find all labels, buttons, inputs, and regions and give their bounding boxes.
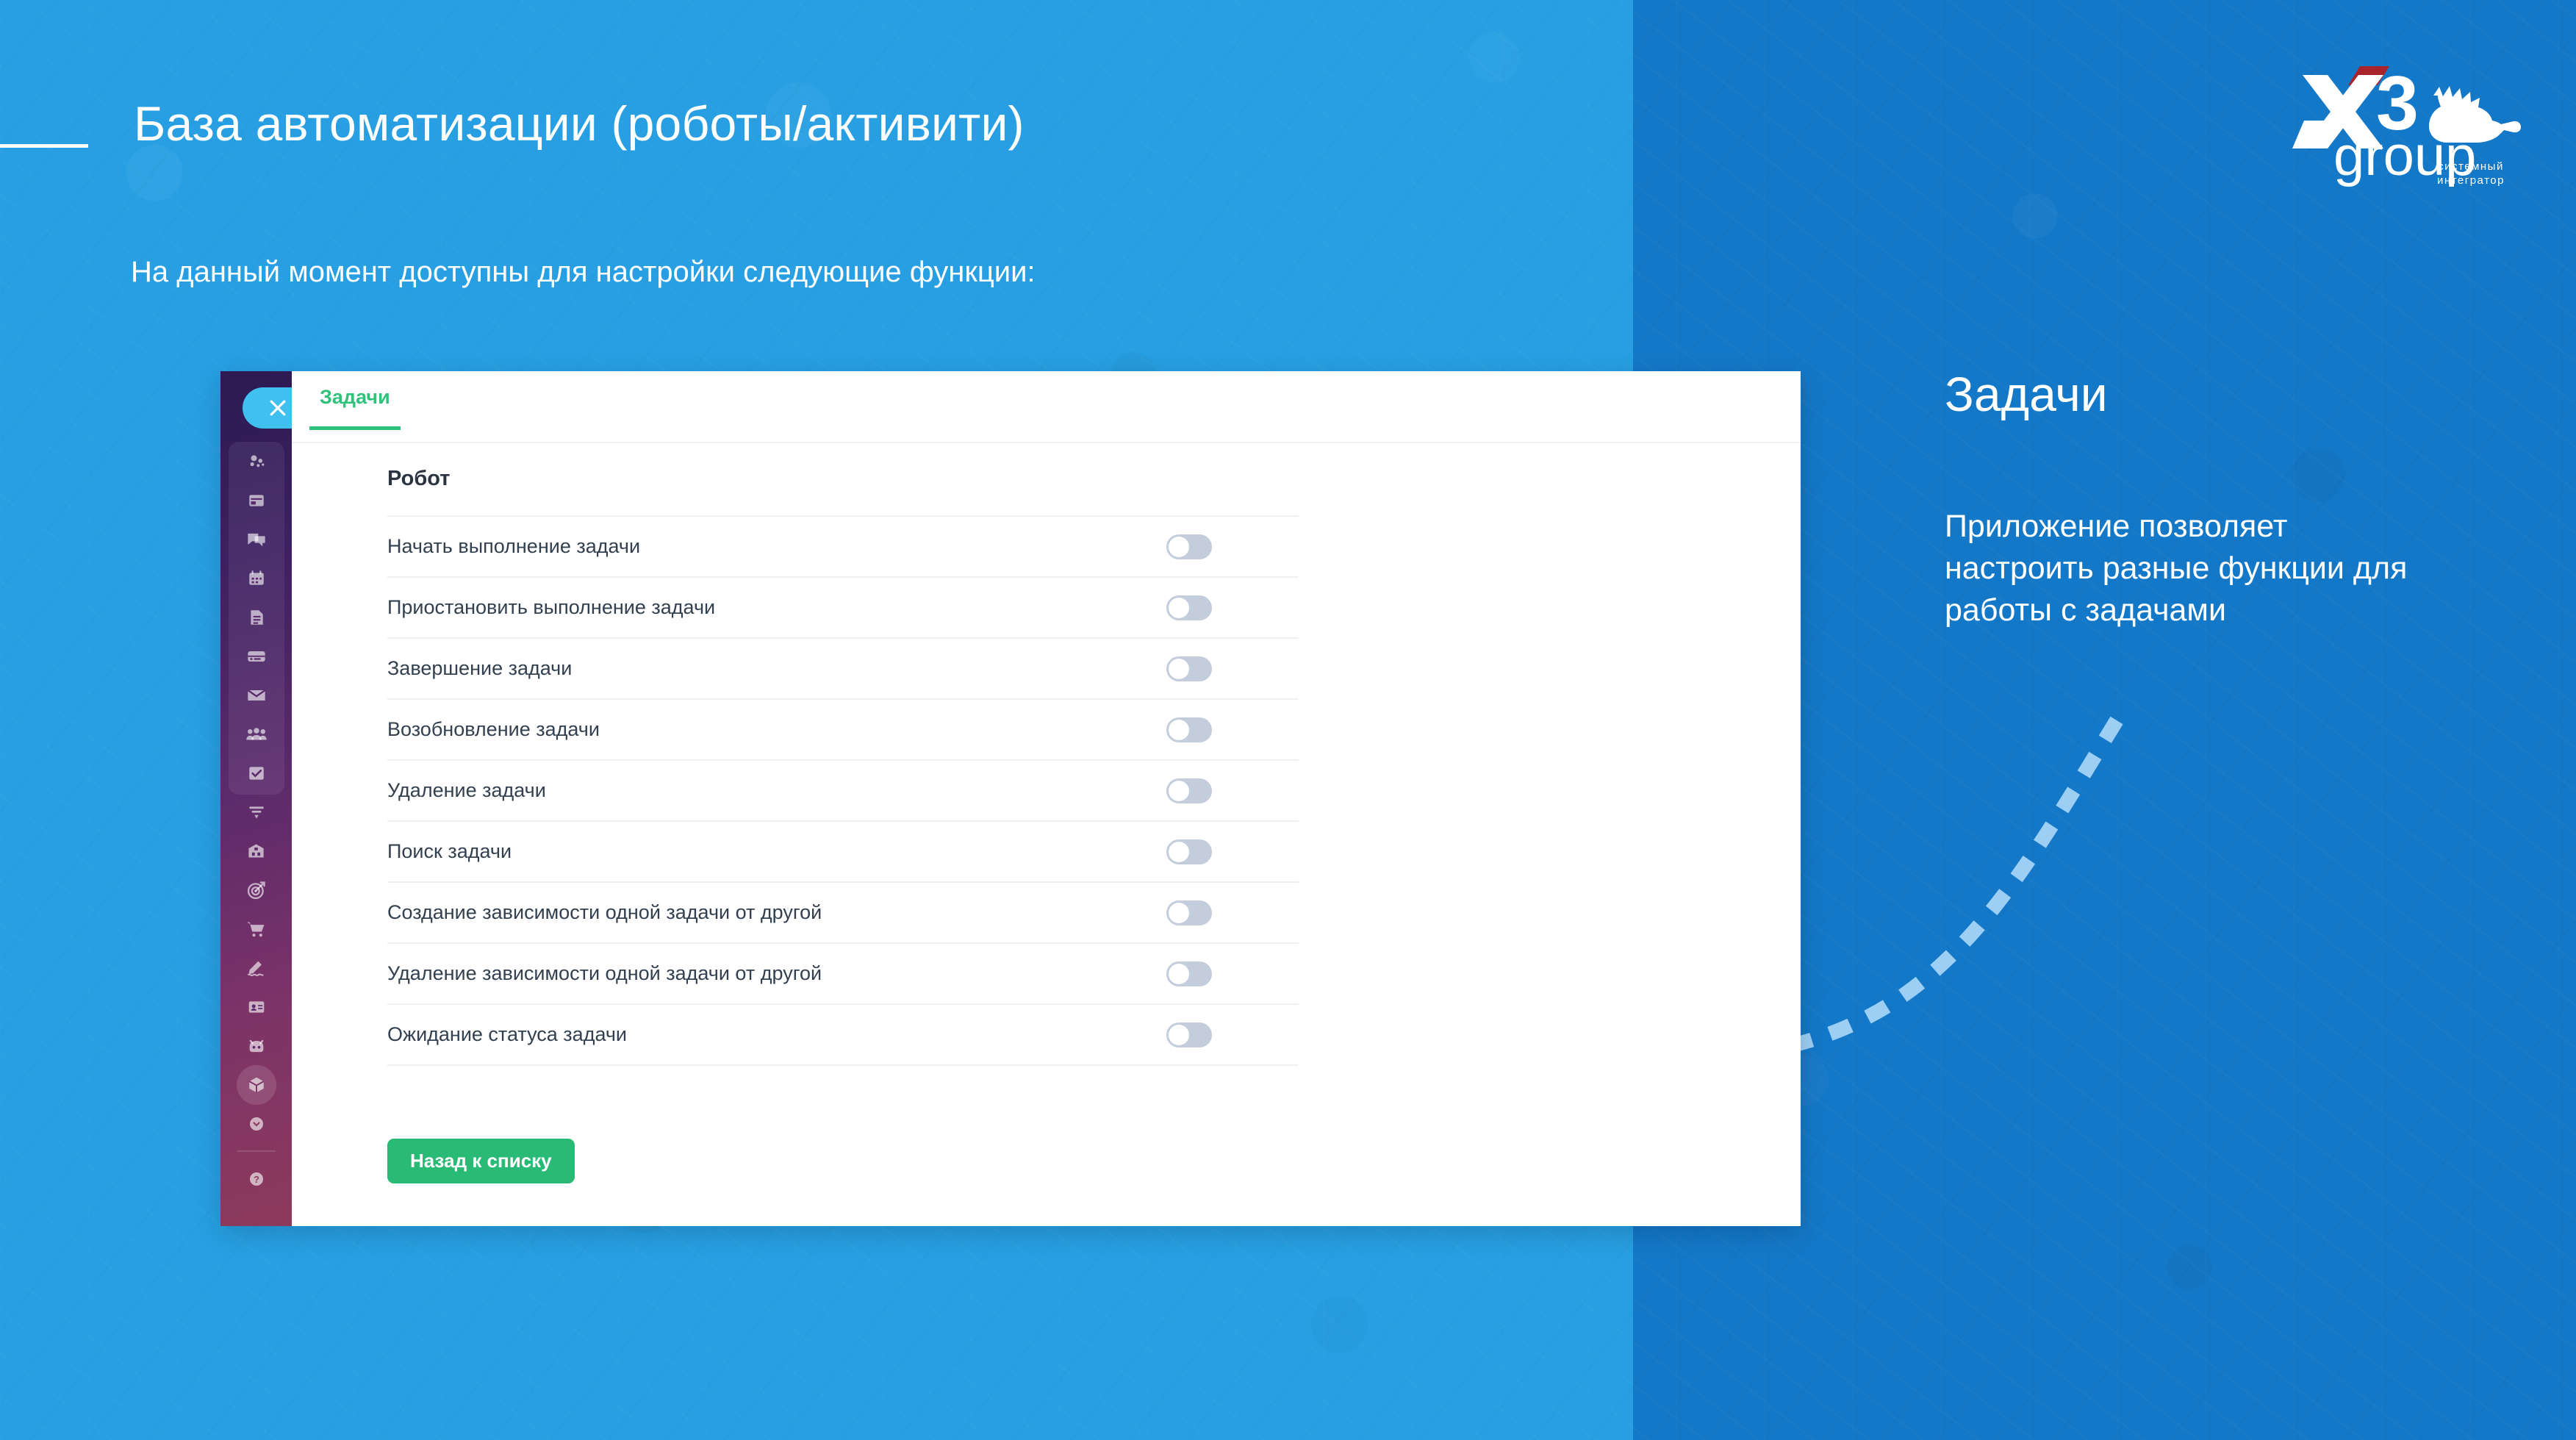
app-window: ? Задачи Робот Начать выполнение задачи … — [220, 371, 1801, 1226]
row-label: Приостановить выполнение задачи — [387, 596, 715, 619]
target-icon — [246, 880, 267, 900]
sidebar-divider — [237, 1150, 276, 1152]
table-row: Ожидание статуса задачи — [387, 1003, 1299, 1066]
sidebar-item-calendar[interactable] — [220, 559, 292, 598]
sidebar-item-funnel[interactable] — [220, 792, 292, 831]
row-label: Поиск задачи — [387, 840, 512, 863]
bot-icon — [246, 1036, 267, 1056]
title-rule — [0, 144, 88, 148]
sidebar-item-contact-card[interactable] — [220, 987, 292, 1026]
table-row: Приостановить выполнение задачи — [387, 576, 1299, 637]
right-column-body: Приложение позволяет настроить разные фу… — [1945, 506, 2444, 631]
live-feed-icon — [246, 451, 267, 472]
chevron-down-circle-icon — [248, 1115, 265, 1133]
sidebar-item-company[interactable] — [220, 831, 292, 870]
sidebar-item-target[interactable] — [220, 870, 292, 909]
table-row: Начать выполнение задачи — [387, 515, 1299, 576]
row-label: Завершение задачи — [387, 657, 572, 680]
chat-icon — [246, 529, 267, 550]
tasks-document-icon — [247, 608, 266, 627]
sidebar-item-chat[interactable] — [220, 520, 292, 559]
sidebar-item-help[interactable]: ? — [220, 1159, 292, 1198]
close-icon[interactable] — [243, 387, 292, 429]
row-toggle[interactable] — [1166, 778, 1212, 803]
section-title: Робот — [387, 467, 450, 491]
row-toggle[interactable] — [1166, 961, 1212, 986]
sidebar-item-tasks-document[interactable] — [220, 598, 292, 637]
workspace-icon — [247, 491, 266, 510]
row-label: Ожидание статуса задачи — [387, 1023, 627, 1046]
checkbox-tasks-icon — [247, 764, 266, 783]
sidebar-item-bot[interactable] — [220, 1026, 292, 1065]
logo-tagline-line1: системный — [2416, 160, 2526, 174]
app-sidebar: ? — [220, 371, 292, 1226]
row-toggle[interactable] — [1166, 1022, 1212, 1047]
help-icon: ? — [248, 1170, 265, 1188]
mail-icon — [246, 685, 267, 706]
robot-function-list: Начать выполнение задачи Приостановить в… — [387, 515, 1299, 1066]
logo-tagline-line2: интегратор — [2416, 174, 2526, 188]
row-toggle[interactable] — [1166, 839, 1212, 864]
x3group-logo: 3 group системный интегратор — [2289, 50, 2532, 190]
page-title: База автоматизации (роботы/активити) — [134, 96, 1604, 151]
row-label: Создание зависимости одной задачи от дру… — [387, 901, 822, 924]
sidebar-item-more[interactable] — [220, 1104, 292, 1143]
row-label: Начать выполнение задачи — [387, 535, 640, 558]
row-label: Возобновление задачи — [387, 718, 600, 741]
svg-text:?: ? — [254, 1174, 259, 1185]
slide-root: База автоматизации (роботы/активити) На … — [0, 0, 2576, 1440]
calendar-icon — [247, 569, 266, 588]
right-column-heading: Задачи — [1945, 366, 2108, 422]
row-toggle[interactable] — [1166, 534, 1212, 559]
table-row: Завершение задачи — [387, 637, 1299, 698]
table-row: Поиск задачи — [387, 820, 1299, 881]
contact-card-icon — [247, 997, 266, 1017]
market-box-icon — [247, 1075, 266, 1095]
employees-icon — [245, 723, 268, 745]
sidebar-item-cart[interactable] — [220, 909, 292, 948]
sidebar-icon-list: ? — [220, 442, 292, 1198]
row-toggle[interactable] — [1166, 595, 1212, 620]
sidebar-item-mail[interactable] — [220, 676, 292, 714]
page-subtitle: На данный момент доступны для настройки … — [131, 256, 1601, 289]
sidebar-item-workspace[interactable] — [220, 481, 292, 520]
cart-icon — [246, 919, 267, 939]
tab-tasks[interactable]: Задачи — [309, 386, 401, 430]
app-content-pane: Задачи Робот Начать выполнение задачи Пр… — [292, 371, 1801, 1226]
sidebar-item-live-feed[interactable] — [220, 442, 292, 481]
sidebar-item-market-box[interactable] — [220, 1065, 292, 1104]
company-icon — [246, 841, 266, 861]
row-toggle[interactable] — [1166, 717, 1212, 742]
sign-icon — [246, 958, 267, 978]
sidebar-item-sign[interactable] — [220, 948, 292, 987]
sidebar-item-checkbox-tasks[interactable] — [220, 753, 292, 792]
sidebar-item-drive[interactable] — [220, 637, 292, 676]
tab-bar: Задачи — [292, 371, 1801, 443]
table-row: Удаление зависимости одной задачи от дру… — [387, 942, 1299, 1003]
table-row: Возобновление задачи — [387, 698, 1299, 759]
sidebar-item-employees[interactable] — [220, 714, 292, 753]
back-to-list-button[interactable]: Назад к списку — [387, 1139, 575, 1183]
row-label: Удаление зависимости одной задачи от дру… — [387, 962, 822, 985]
row-label: Удаление задачи — [387, 779, 546, 802]
row-toggle[interactable] — [1166, 900, 1212, 925]
drive-icon — [246, 646, 267, 667]
table-row: Удаление задачи — [387, 759, 1299, 820]
table-row: Создание зависимости одной задачи от дру… — [387, 881, 1299, 942]
funnel-icon — [247, 803, 266, 822]
row-toggle[interactable] — [1166, 656, 1212, 681]
